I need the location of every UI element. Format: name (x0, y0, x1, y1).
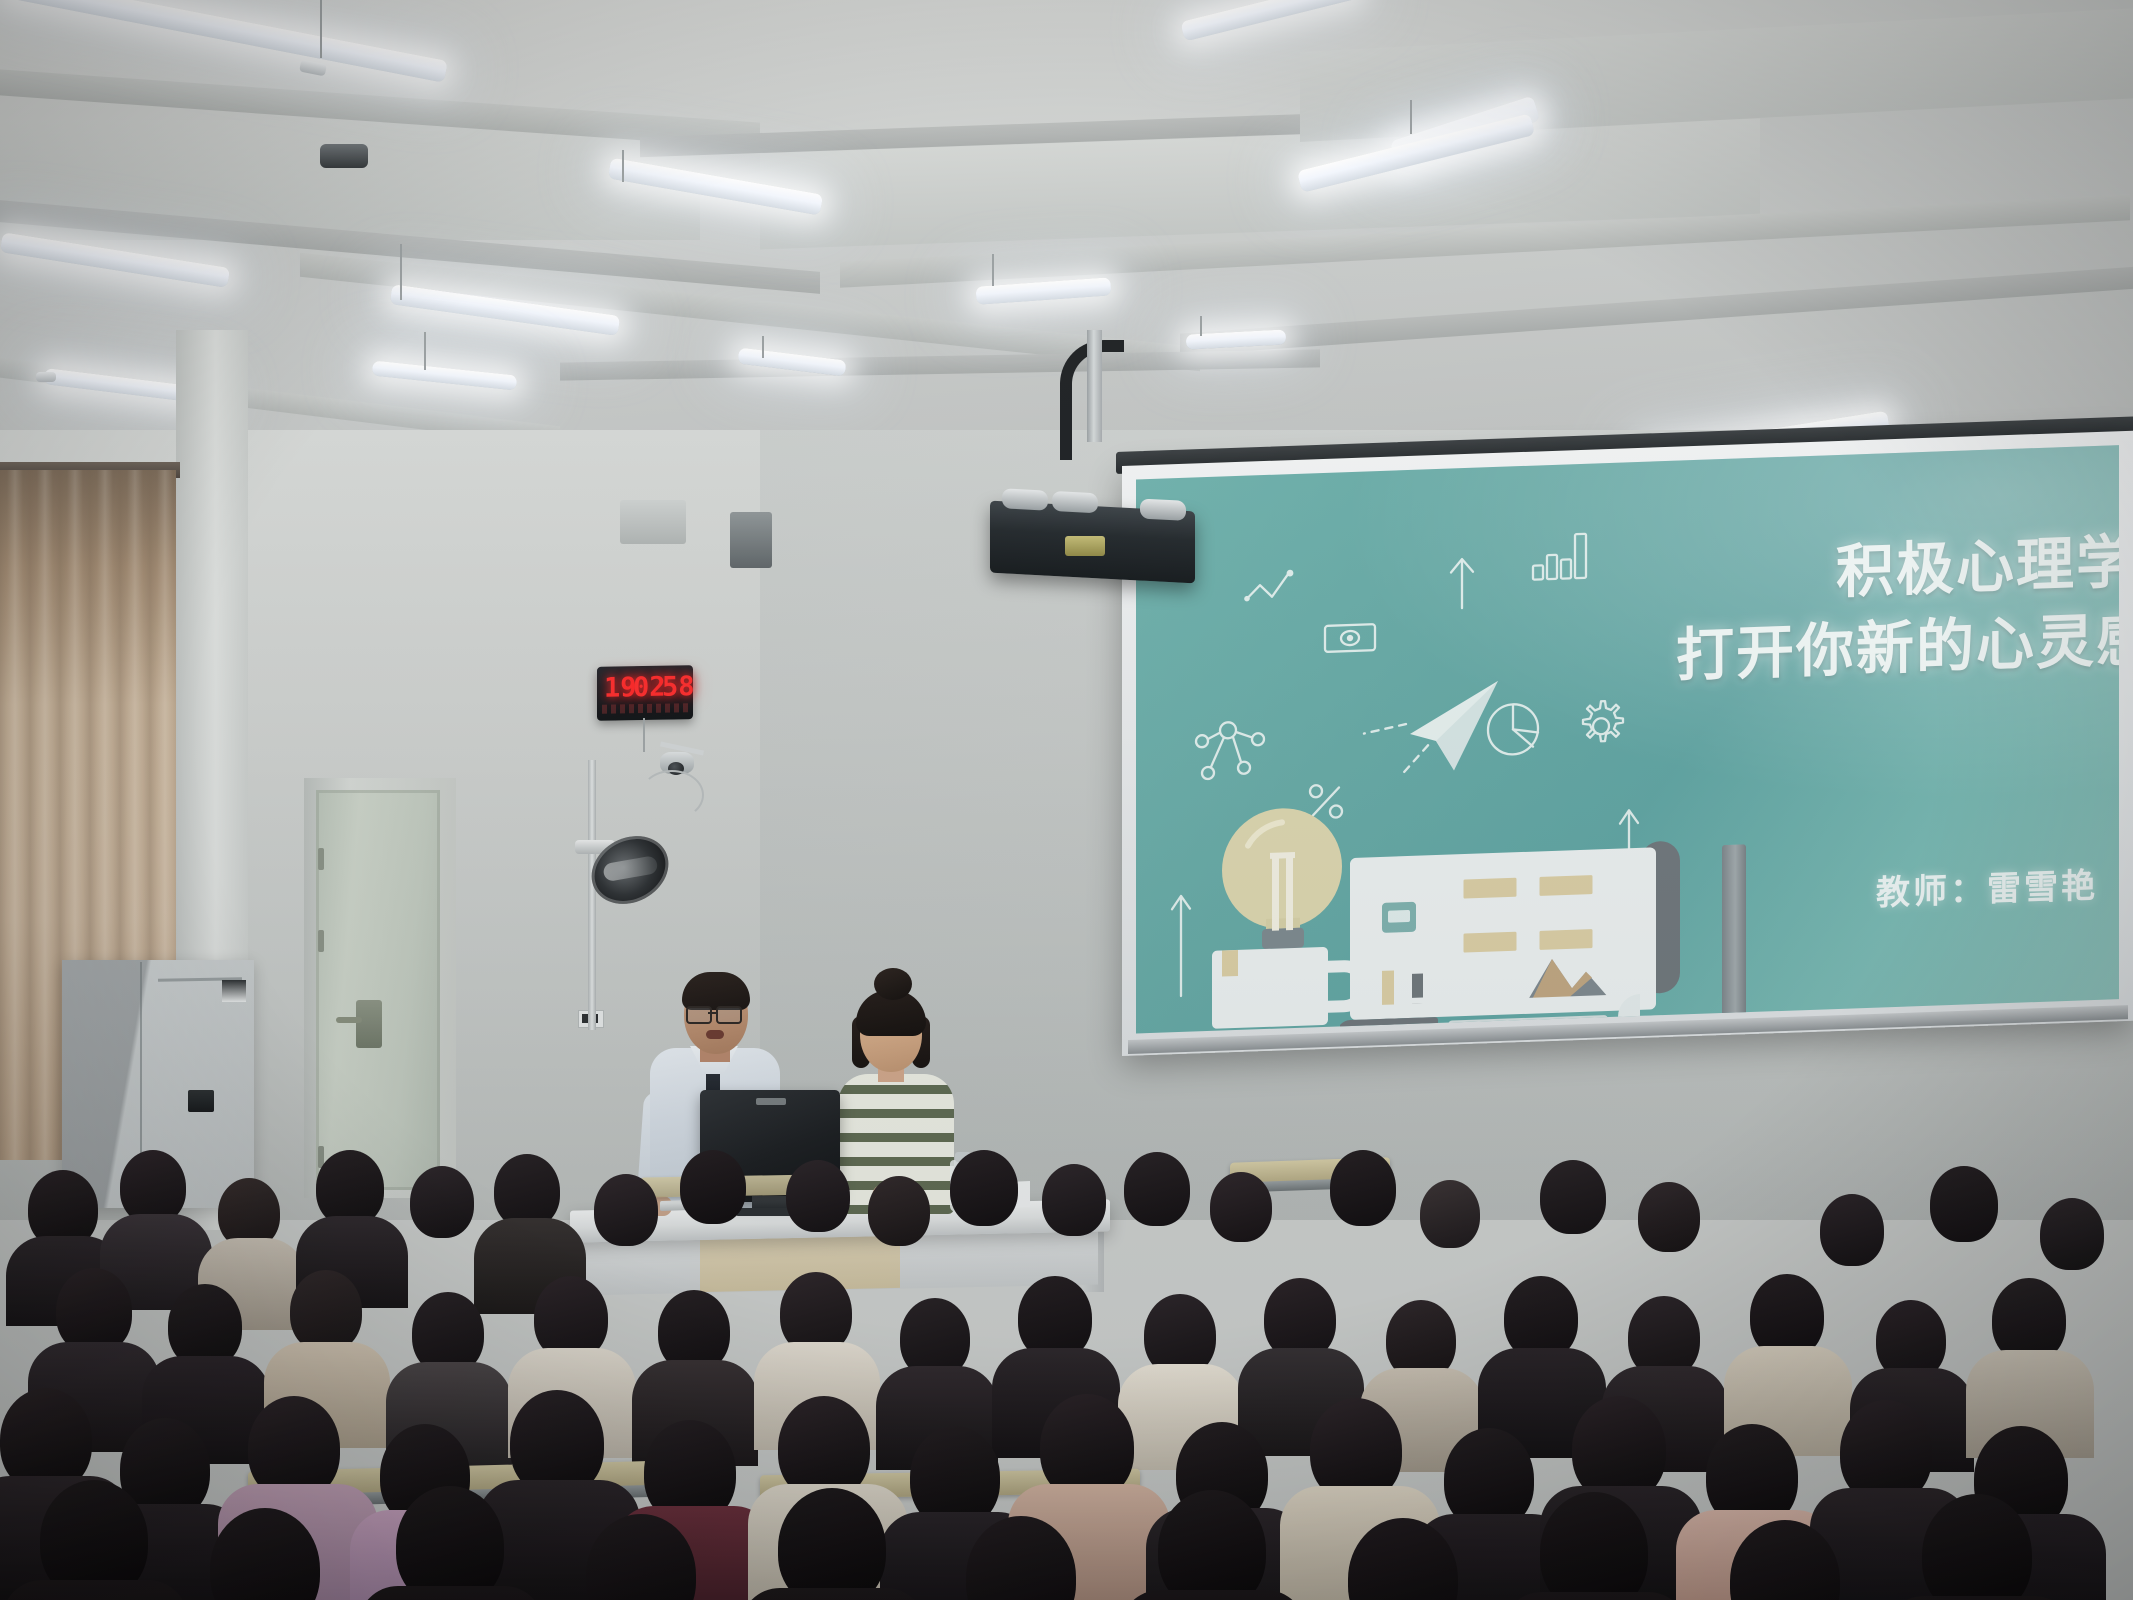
projection-screen: 积极心理学 打开你新的心灵感悟 教师：雷雪艳 (1122, 431, 2133, 1056)
clock-seconds: 58 (662, 673, 695, 701)
slide-presenter: 教师：雷雪艳 (1876, 858, 2098, 915)
student-body (2, 1580, 188, 1600)
woman-hair-bun (874, 968, 912, 1000)
student-head (396, 1486, 504, 1600)
digital-led-clock: 19 02 58 (597, 665, 693, 721)
light-hanger (424, 332, 426, 370)
student-audience (0, 1150, 2133, 1600)
student-head (1124, 1152, 1190, 1226)
monitor-brand-label (756, 1098, 786, 1105)
clock-minutes: 02 (633, 674, 666, 702)
network-share-icon (1194, 713, 1266, 786)
student-head (868, 1176, 930, 1246)
cabinet-latch[interactable] (188, 1090, 214, 1112)
student-head (1330, 1150, 1396, 1226)
glasses-icon (686, 1006, 712, 1024)
light-hanger (320, 0, 322, 58)
student-body (740, 1588, 926, 1600)
light-hanger (622, 150, 624, 182)
ruler-icon (1722, 844, 1746, 1033)
pie-chart-icon (1484, 699, 1542, 759)
student-head (1210, 1172, 1272, 1242)
student-head (778, 1488, 886, 1600)
light-hanger (992, 254, 994, 286)
slide-surface: 积极心理学 打开你新的心灵感悟 教师：雷雪艳 (1136, 445, 2119, 1033)
student-head (1420, 1180, 1480, 1248)
light-hanger (400, 244, 402, 300)
student-head (410, 1166, 474, 1238)
student-body (358, 1586, 544, 1600)
wall-speaker-box (730, 512, 772, 568)
light-hanger (1200, 316, 1202, 336)
smoke-detector-icon (320, 144, 368, 168)
student-head (786, 1160, 850, 1232)
fan-blade (602, 855, 658, 882)
student-head (680, 1150, 746, 1224)
gear-icon (1572, 696, 1630, 756)
fan-power-cord (640, 770, 704, 820)
student-head (494, 1154, 560, 1228)
student-head (1540, 1160, 1606, 1234)
student-body (1502, 1592, 1688, 1600)
door-hinge (318, 848, 324, 870)
student-body (1120, 1590, 1306, 1600)
student-head (1820, 1194, 1884, 1266)
student-head (290, 1270, 362, 1352)
wall-vent (620, 500, 686, 544)
student-head (1540, 1492, 1648, 1600)
door-lock-plate[interactable] (356, 1000, 382, 1048)
cabinet-label (222, 980, 246, 1002)
blueprint-document-illustration (1340, 832, 1700, 1034)
door-hinge (318, 930, 324, 952)
student-head (1158, 1490, 1266, 1600)
man-hair (682, 972, 750, 1010)
student-head (2040, 1198, 2104, 1270)
student-head (1930, 1166, 1998, 1242)
man-mouth (706, 1030, 724, 1039)
bar-chart-icon (1530, 526, 1592, 584)
light-mount (36, 372, 56, 382)
clock-cord (643, 718, 645, 752)
banknote-icon (1322, 619, 1378, 657)
glasses-icon (716, 1006, 742, 1024)
door-handle[interactable] (336, 1017, 362, 1023)
projector-mount-pole (1087, 330, 1102, 442)
projector-lens (1065, 536, 1105, 556)
up-arrow-icon (1444, 553, 1480, 612)
clock-secondary-display (602, 703, 688, 714)
student-head (1638, 1182, 1700, 1252)
line-chart-icon (1244, 566, 1308, 610)
student-head (950, 1150, 1018, 1226)
student-head (594, 1174, 658, 1246)
classroom-door[interactable] (316, 790, 440, 1190)
lecture-hall-photo: 积极心理学 打开你新的心灵感悟 教师：雷雪艳 19 02 58 (0, 0, 2133, 1600)
glasses-bridge (708, 1012, 716, 1014)
student-head (120, 1150, 186, 1224)
fan-pole (588, 760, 596, 1030)
light-hanger (762, 336, 764, 358)
student-head (316, 1150, 384, 1226)
student-head (1042, 1164, 1106, 1236)
slide-title-line2: 打开你新的心灵感悟 (1676, 590, 2119, 693)
light-hanger (1410, 100, 1412, 134)
clock-hours: 19 (604, 674, 637, 702)
